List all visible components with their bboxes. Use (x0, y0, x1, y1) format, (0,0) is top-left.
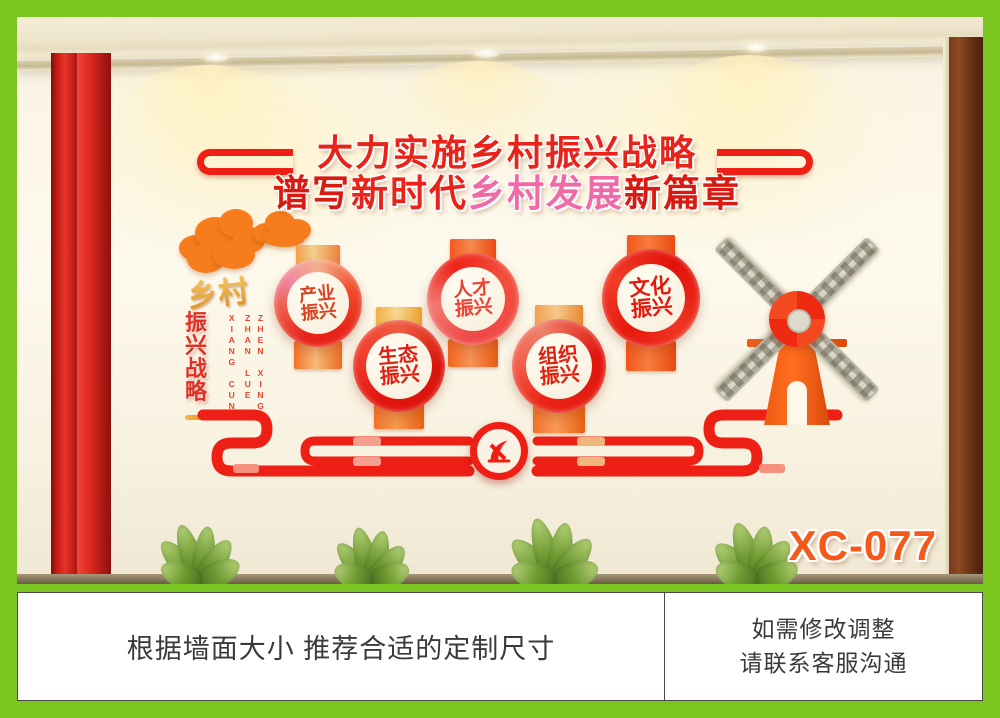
badge-text: 生态 振兴 (377, 344, 420, 388)
potted-plant (317, 504, 427, 584)
windmill-door (787, 381, 807, 425)
badge-text: 产业 振兴 (298, 283, 337, 323)
size-note-text: 根据墙面大小 推荐合适的定制尺寸 (127, 627, 556, 666)
badge-face: 文化 振兴 (617, 264, 685, 332)
badge-organization[interactable]: 组织 振兴 (509, 305, 609, 433)
contact-note-line-2: 请联系客服沟通 (740, 647, 908, 680)
bottom-notes: 根据墙面大小 推荐合适的定制尺寸 如需修改调整 请联系客服沟通 (17, 592, 983, 701)
badge-face: 人才 振兴 (441, 267, 505, 331)
badge-line-2: 振兴 (630, 296, 674, 321)
contact-note-line-1: 如需修改调整 (740, 613, 908, 646)
badge-face: 产业 振兴 (287, 272, 349, 334)
badge-talent[interactable]: 人才 振兴 (425, 239, 521, 367)
badge-text: 组织 振兴 (537, 344, 580, 388)
windmill-hub (769, 291, 825, 347)
badge-face: 生态 振兴 (366, 333, 432, 399)
badge-ring: 文化 振兴 (602, 249, 700, 347)
badge-text: 人才 振兴 (452, 278, 493, 320)
contact-note-panel: 如需修改调整 请联系客服沟通 (665, 592, 983, 701)
wall-photo: 大力实施乡村振兴战略 谱写新时代乡村发展新篇章 乡村 振兴战略 XIANG CU… (17, 17, 983, 584)
size-note-panel: 根据墙面大小 推荐合适的定制尺寸 (17, 592, 665, 701)
badge-ring: 产业 振兴 (274, 259, 362, 347)
badge-line-2: 振兴 (300, 301, 337, 322)
badge-line-2: 振兴 (539, 364, 581, 388)
potted-plant (145, 498, 255, 584)
badge-face: 组织 振兴 (526, 333, 592, 399)
party-emblem-inner (477, 429, 521, 473)
badge-line-2: 振兴 (454, 297, 494, 320)
badge-text: 文化 振兴 (628, 275, 674, 321)
hammer-sickle-icon (484, 436, 514, 466)
contact-note-text: 如需修改调整 请联系客服沟通 (740, 613, 908, 680)
windmill-icon (707, 229, 887, 409)
badge-ring: 人才 振兴 (427, 253, 519, 345)
product-code: XC-077 (789, 522, 937, 570)
potted-plant (495, 492, 615, 584)
badge-culture[interactable]: 文化 振兴 (599, 235, 703, 371)
badge-ring: 组织 振兴 (512, 319, 606, 413)
page-frame: 大力实施乡村振兴战略 谱写新时代乡村发展新篇章 乡村 振兴战略 XIANG CU… (0, 0, 1000, 718)
badge-line-2: 振兴 (379, 364, 421, 388)
badge-industry[interactable]: 产业 振兴 (273, 245, 363, 369)
